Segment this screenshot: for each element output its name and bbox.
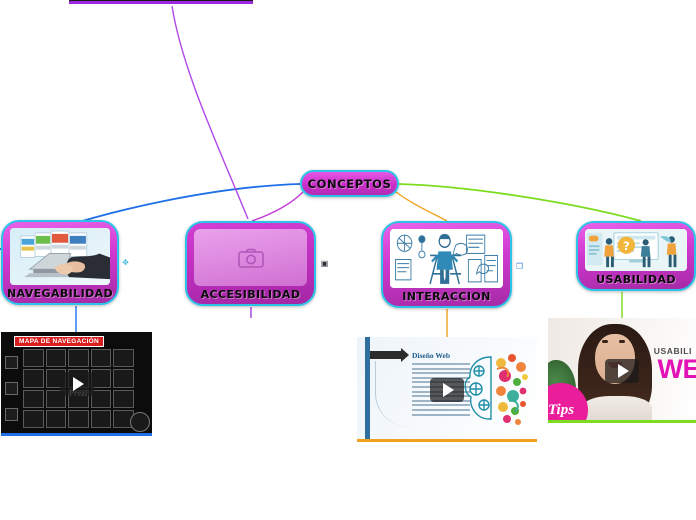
camera-icon: [238, 248, 264, 268]
node-thumbnail-navegabilidad: [10, 228, 110, 285]
video-card-usabilidad[interactable]: USABILI WE Tips: [548, 318, 696, 423]
video-underline-navegabilidad: [1, 433, 152, 436]
navmap-seal-icon: [130, 412, 150, 432]
play-button-navegabilidad[interactable]: [60, 372, 94, 396]
copy-glyph: ❐: [516, 263, 523, 271]
navigation-map-title: MAPA DE NAVEGACIÓN: [14, 336, 104, 347]
node-usabilidad[interactable]: ? USABILIDAD: [576, 221, 696, 291]
node-label-usabilidad: USABILIDAD: [596, 271, 676, 287]
central-node-conceptos[interactable]: CONCEPTOS: [300, 170, 399, 197]
attachment-glyph: ✥: [122, 259, 129, 267]
node-interaccion[interactable]: INTERACCION: [381, 221, 512, 308]
copy-icon[interactable]: ❐: [514, 261, 525, 272]
node-thumbnail-usabilidad: ?: [585, 229, 687, 271]
connector-interaccion: [396, 192, 447, 221]
presenter-eye-left: [602, 340, 608, 343]
node-thumbnail-interaccion: [390, 229, 503, 288]
central-node-label: CONCEPTOS: [308, 175, 392, 192]
node-label-interaccion: INTERACCION: [402, 288, 491, 304]
note-glyph: ▣: [321, 260, 329, 268]
attachment-icon[interactable]: ✥: [120, 257, 131, 268]
mindmap-canvas: CONCEPTOS: [0, 0, 696, 520]
node-accesibilidad[interactable]: ACCESIBILIDAD: [185, 221, 316, 306]
video-card-top[interactable]: [69, 0, 253, 4]
video-underline-usabilidad: [548, 420, 696, 423]
broken-image-placeholder: [194, 229, 307, 286]
video-headline-text: WE: [658, 356, 696, 383]
play-button-interaccion[interactable]: [430, 378, 464, 402]
video-card-interaccion[interactable]: Diseño Web: [357, 337, 537, 442]
colorful-brain-illustration: [457, 349, 531, 429]
presenter-body: [582, 396, 652, 423]
slide-title: Diseño Web: [412, 351, 450, 360]
presenter-eye-right: [619, 340, 625, 343]
node-thumbnail-accesibilidad: [194, 229, 307, 286]
video-card-navegabilidad[interactable]: MAPA DE NAVEGACIÓN Prezi: [1, 332, 152, 436]
slide-arrow-icon: [370, 351, 402, 359]
svg-text:?: ?: [623, 239, 630, 253]
node-label-accesibilidad: ACCESIBILIDAD: [201, 286, 301, 302]
play-button-usabilidad[interactable]: [605, 359, 639, 383]
connector-accesibilidad: [252, 192, 303, 221]
node-label-navegabilidad: NAVEGABILIDAD: [7, 285, 113, 301]
connector-top-video: [172, 6, 248, 219]
video-underline-top: [69, 1, 253, 4]
node-navegabilidad[interactable]: NAVEGABILIDAD: [1, 220, 119, 305]
navmap-side-rail: [3, 349, 20, 428]
note-icon[interactable]: ▣: [319, 258, 330, 269]
video-underline-interaccion: [357, 439, 537, 442]
slide-swirl-decoration: [375, 361, 409, 427]
